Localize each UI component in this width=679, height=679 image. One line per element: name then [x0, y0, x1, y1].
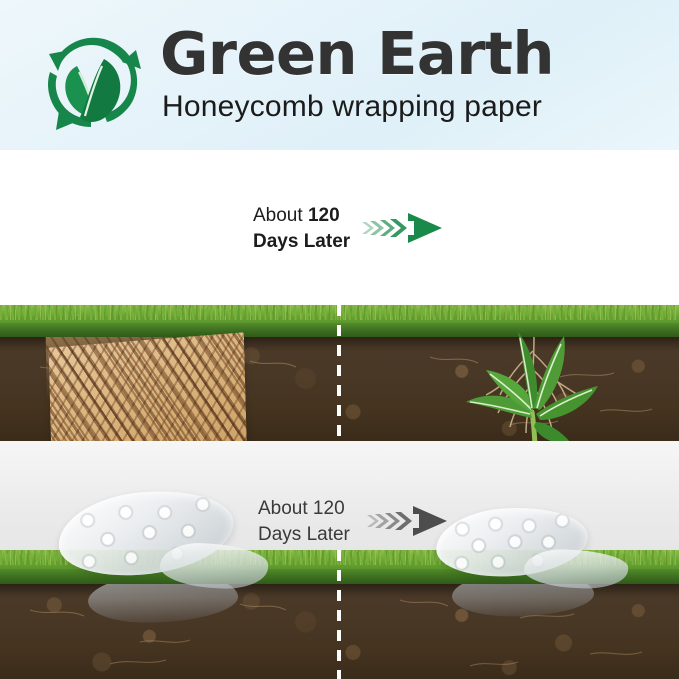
seedling-plant [452, 326, 622, 441]
honeycomb-paper-product [44, 338, 256, 441]
caption-top-lead: About [253, 205, 308, 226]
honeycomb-lattice-pattern [48, 332, 247, 441]
plastic-bubble-wrap-right [432, 508, 644, 630]
caption-bottom-line2: Days Later [258, 522, 350, 548]
gray-right-arrow-icon [367, 503, 449, 539]
product-infographic: Green Earth Honeycomb wrapping paper [0, 0, 679, 679]
caption-top-line2: Days Later [253, 229, 350, 255]
caption-bottom: About 120 Days Later [258, 496, 350, 548]
caption-top: About 120 Days Later [253, 203, 350, 255]
page-subtitle: Honeycomb wrapping paper [162, 90, 542, 124]
header-banner: Green Earth Honeycomb wrapping paper [0, 0, 679, 150]
recycling-leaves-logo-icon [32, 26, 148, 142]
biodegradable-panel: About 120 Days Later [0, 150, 679, 441]
panel-divider-bottom [337, 550, 341, 679]
caption-top-line1: About 120 [253, 203, 350, 229]
honeycomb-paper-sheet [48, 332, 247, 441]
green-right-arrow-icon [362, 210, 444, 246]
page-title: Green Earth [160, 24, 554, 84]
plastic-bubble-wrap-left [52, 488, 282, 628]
non-biodegradable-panel: About 120 Days Later [0, 441, 679, 679]
panel-divider-top [337, 305, 341, 441]
plastic-sheet-tail-after [523, 547, 629, 590]
plastic-sheet-tail [159, 540, 270, 591]
caption-bottom-line1: About 120 [258, 496, 350, 522]
caption-top-days-value: 120 [308, 205, 340, 226]
